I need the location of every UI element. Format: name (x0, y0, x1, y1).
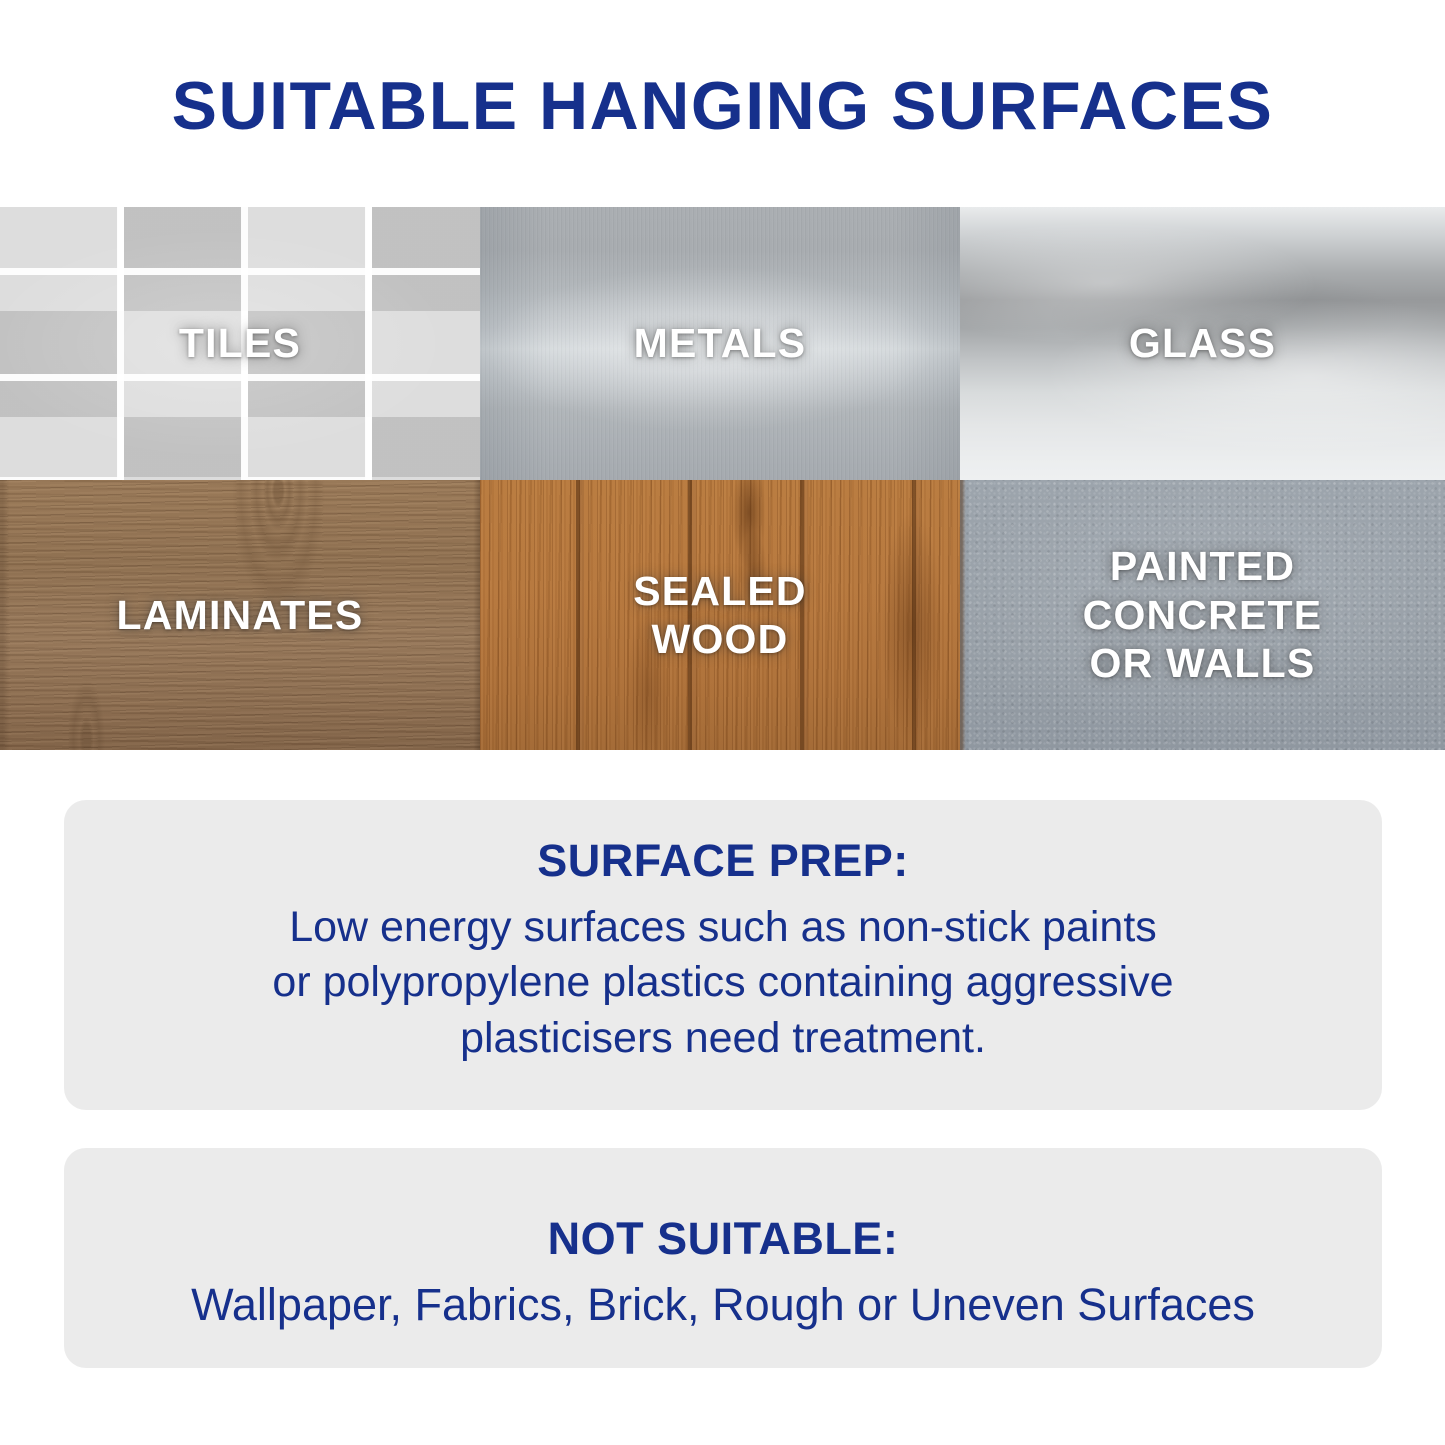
surface-label-tiles: TILES (179, 319, 301, 367)
surface-label-sealed-wood: SEALED WOOD (633, 567, 807, 664)
surface-cell-glass: GLASS (960, 207, 1445, 480)
surface-grid: TILES METALS GLASS LAMINATES SEALED WOOD… (0, 207, 1445, 750)
surface-prep-panel: SURFACE PREP: Low energy surfaces such a… (64, 800, 1382, 1110)
surface-label-metals: METALS (634, 319, 807, 367)
surface-prep-heading: SURFACE PREP: (104, 836, 1342, 886)
surface-label-painted-concrete: PAINTED CONCRETE OR WALLS (1083, 542, 1323, 687)
surface-label-laminates: LAMINATES (117, 591, 364, 639)
surface-cell-tiles: TILES (0, 207, 480, 480)
page-title: SUITABLE HANGING SURFACES (0, 0, 1445, 140)
not-suitable-panel: NOT SUITABLE: Wallpaper, Fabrics, Brick,… (64, 1148, 1382, 1368)
surface-prep-body: Low energy surfaces such as non-stick pa… (104, 900, 1342, 1068)
surface-cell-painted-concrete: PAINTED CONCRETE OR WALLS (960, 480, 1445, 750)
not-suitable-heading: NOT SUITABLE: (104, 1214, 1342, 1264)
not-suitable-body: Wallpaper, Fabrics, Brick, Rough or Unev… (104, 1278, 1342, 1332)
surface-cell-laminates: LAMINATES (0, 480, 480, 750)
surface-label-glass: GLASS (1129, 319, 1276, 367)
surface-cell-metals: METALS (480, 207, 960, 480)
surface-cell-sealed-wood: SEALED WOOD (480, 480, 960, 750)
info-panels: SURFACE PREP: Low energy surfaces such a… (64, 800, 1382, 1368)
